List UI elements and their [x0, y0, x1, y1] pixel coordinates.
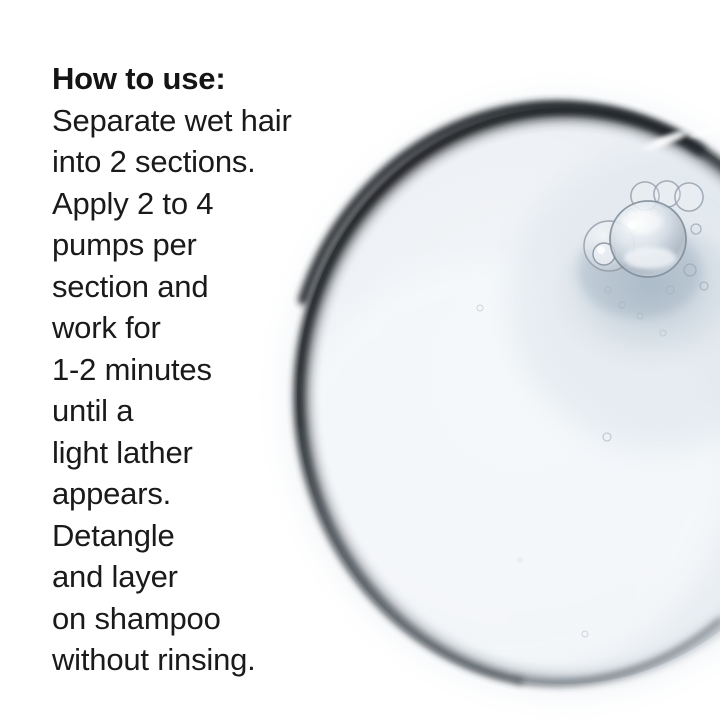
product-instruction-card: How to use: Separate wet hair into 2 sec…: [0, 0, 720, 720]
droplet-rim-bottom-right-accent: [520, 620, 720, 683]
instruction-line-13: on shampoo: [52, 598, 352, 640]
small-bubble-left: [593, 243, 615, 265]
medium-bubble: [584, 221, 634, 271]
ring-bubble-group: [626, 181, 703, 219]
rim-specular-highlight-secondary: [688, 125, 720, 140]
instruction-line-5: section and: [52, 266, 352, 308]
large-bubble: [610, 201, 686, 277]
instruction-line-1: Separate wet hair: [52, 100, 352, 142]
droplet-rim-top-accent: [303, 105, 700, 300]
droplet-body: [297, 108, 720, 684]
bubble-cluster-shadow: [555, 220, 720, 380]
instruction-line-10: appears.: [52, 473, 352, 515]
instruction-line-8: until a: [52, 390, 352, 432]
instruction-line-4: pumps per: [52, 224, 352, 266]
micro-bubble-group: [605, 224, 708, 336]
how-to-use-instructions: How to use: Separate wet hair into 2 sec…: [52, 58, 352, 681]
instruction-line-14: without rinsing.: [52, 639, 352, 681]
instruction-line-7: 1-2 minutes: [52, 349, 352, 391]
instruction-line-9: light lather: [52, 432, 352, 474]
instruction-line-6: work for: [52, 307, 352, 349]
gel-speck-group: [477, 305, 611, 637]
instruction-line-3: Apply 2 to 4: [52, 183, 352, 225]
how-to-use-heading: How to use:: [52, 58, 352, 100]
instruction-line-12: and layer: [52, 556, 352, 598]
instruction-line-11: Detangle: [52, 515, 352, 557]
instruction-line-2: into 2 sections.: [52, 141, 352, 183]
droplet-rim: [299, 110, 720, 682]
rim-specular-highlight: [636, 124, 699, 156]
